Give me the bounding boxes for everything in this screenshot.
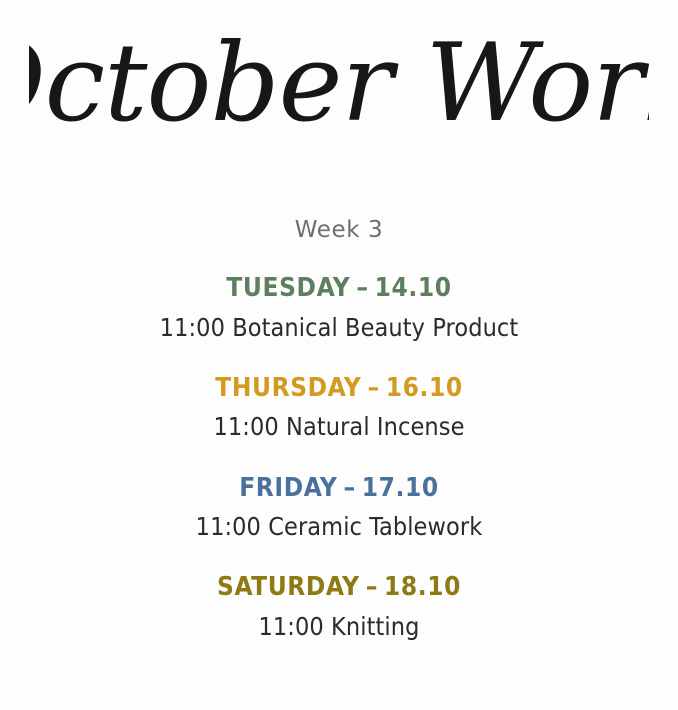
schedule-list: TUESDAY–14.10 11:00 Botanical Beauty Pro…	[0, 272, 678, 645]
event-day: TUESDAY	[226, 273, 350, 303]
poster-title: Ibiza October Workshops	[0, 16, 678, 166]
event-separator: –	[360, 572, 384, 602]
event-heading: THURSDAY–16.10	[0, 372, 678, 405]
event-day: SATURDAY	[217, 572, 360, 602]
workshop-poster: Ibiza October Workshops Week 3 TUESDAY–1…	[0, 0, 678, 710]
event-date: 16.10	[386, 373, 463, 403]
event-detail: 11:00 Botanical Beauty Product	[0, 310, 678, 346]
list-item: FRIDAY–17.10 11:00 Ceramic Tablework	[0, 472, 678, 546]
event-heading: SATURDAY–18.10	[0, 571, 678, 604]
event-separator: –	[361, 373, 385, 403]
event-heading: TUESDAY–14.10	[0, 272, 678, 305]
week-subtitle: Week 3	[0, 217, 678, 243]
title-script-art: Ibiza October Workshops	[29, 16, 649, 166]
event-date: 18.10	[384, 572, 461, 602]
list-item: THURSDAY–16.10 11:00 Natural Incense	[0, 372, 678, 446]
event-date: 17.10	[362, 473, 439, 503]
event-heading: FRIDAY–17.10	[0, 472, 678, 505]
list-item: TUESDAY–14.10 11:00 Botanical Beauty Pro…	[0, 272, 678, 346]
event-detail: 11:00 Knitting	[0, 609, 678, 645]
event-day: THURSDAY	[215, 373, 361, 403]
event-date: 14.10	[375, 273, 452, 303]
event-day: FRIDAY	[239, 473, 337, 503]
event-separator: –	[350, 273, 374, 303]
event-separator: –	[337, 473, 361, 503]
list-item: SATURDAY–18.10 11:00 Knitting	[0, 571, 678, 645]
event-detail: 11:00 Ceramic Tablework	[0, 509, 678, 545]
event-detail: 11:00 Natural Incense	[0, 409, 678, 445]
title-text: Ibiza October Workshops	[29, 21, 649, 146]
